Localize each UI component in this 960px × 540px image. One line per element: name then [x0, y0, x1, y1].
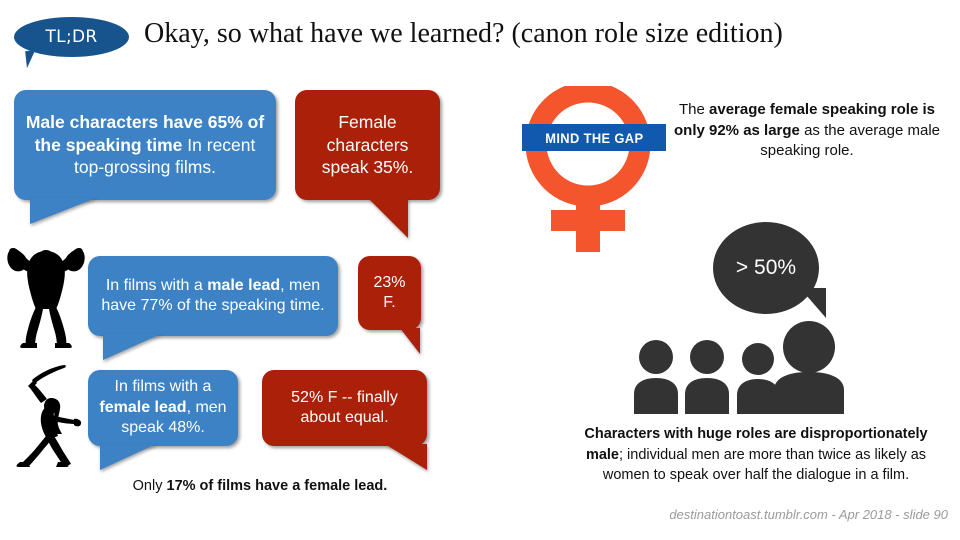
- bubble-female-lead-tail: [100, 444, 156, 470]
- mind-the-gap-banner: MIND THE GAP: [522, 124, 666, 151]
- caption-female-lead-pre: Only: [133, 478, 167, 494]
- bubble-male-speaking-time: Male characters have 65% of the speaking…: [14, 90, 276, 200]
- bubble-52-percent-f-text: 52% F -- finally about equal.: [262, 384, 427, 433]
- group-of-people-icon: [628, 316, 848, 414]
- bubble-male-lead-text: In films with a male lead, men have 77% …: [88, 272, 338, 321]
- bodybuilder-silhouette-icon: [6, 243, 86, 348]
- caption-huge-roles: Characters with huge roles are dispropor…: [566, 424, 946, 486]
- bubble-52-percent-f: 52% F -- finally about equal.: [262, 370, 427, 446]
- bubble-male-lead-pre: In films with a: [106, 277, 207, 294]
- footer-credit: destinationtoast.tumblr.com - Apr 2018 -…: [560, 507, 948, 522]
- bubble-female-lead-pre: In films with a: [115, 378, 212, 395]
- bubble-female-lead-bold: female lead: [99, 399, 186, 416]
- bubble-female-speak-35-text: Female characters speak 35%.: [295, 107, 440, 182]
- tldr-badge-tail: [25, 49, 51, 68]
- bubble-male-lead-bold: male lead: [207, 277, 280, 294]
- bubble-male-speaking-time-tail: [30, 198, 96, 224]
- caption-female-lead: Only 17% of films have a female lead.: [70, 478, 450, 494]
- bubble-over-50-percent-tail: [800, 288, 826, 318]
- bubble-23-percent-f: 23% F.: [358, 256, 421, 330]
- page-title: Okay, so what have we learned? (canon ro…: [144, 18, 783, 50]
- bubble-male-speaking-time-text: Male characters have 65% of the speaking…: [14, 107, 276, 182]
- caption-huge-roles-post: ; individual men are more than twice as …: [603, 447, 926, 484]
- bubble-52-percent-f-tail: [385, 444, 427, 470]
- bubble-over-50-percent-text: > 50%: [736, 256, 796, 280]
- bubble-female-lead: In films with a female lead, men speak 4…: [88, 370, 238, 446]
- bubble-male-lead-tail: [103, 334, 161, 360]
- bubble-female-speak-35: Female characters speak 35%.: [295, 90, 440, 200]
- tldr-badge-label: TL;DR: [46, 27, 98, 47]
- bubble-23-percent-f-text: 23% F.: [358, 269, 421, 318]
- bubble-female-speak-35-tail: [368, 198, 408, 238]
- text-average-female-role-pre: The: [679, 101, 709, 118]
- text-average-female-role: The average female speaking role is only…: [668, 100, 946, 162]
- caption-female-lead-bold: 17% of films have a female lead.: [167, 478, 388, 494]
- female-warrior-silhouette-icon: [6, 362, 86, 467]
- venus-gender-symbol-icon: [523, 86, 653, 254]
- bubble-male-lead: In films with a male lead, men have 77% …: [88, 256, 338, 336]
- mind-the-gap-label: MIND THE GAP: [545, 130, 643, 146]
- bubble-female-lead-text: In films with a female lead, men speak 4…: [88, 373, 238, 442]
- bubble-23-percent-f-tail: [400, 328, 420, 354]
